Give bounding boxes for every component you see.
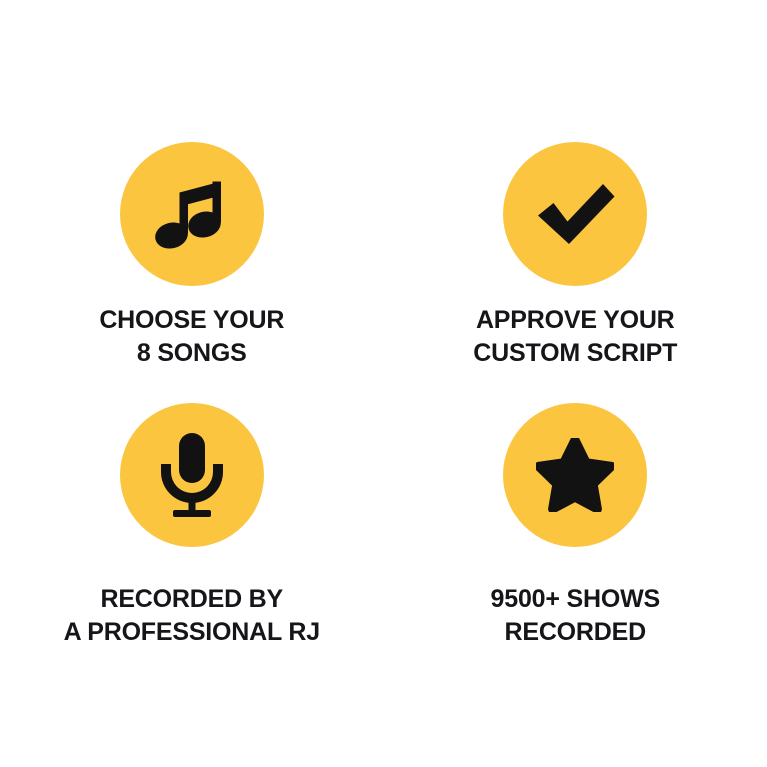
feature-item-approve-script[interactable]: APPROVE YOUR CUSTOM SCRIPT: [384, 0, 767, 370]
feature-infographic: CHOOSE YOUR 8 SONGS APPROVE YOUR CUSTOM …: [0, 0, 767, 767]
feature-item-shows-recorded[interactable]: 9500+ SHOWS RECORDED: [384, 384, 767, 649]
microphone-icon: [159, 433, 225, 517]
check-mark-icon: [534, 182, 616, 246]
feature-label-choose-songs: CHOOSE YOUR 8 SONGS: [99, 304, 284, 370]
icon-badge-approve-script: [503, 142, 647, 286]
feature-item-choose-songs[interactable]: CHOOSE YOUR 8 SONGS: [0, 0, 384, 370]
feature-label-approve-script: APPROVE YOUR CUSTOM SCRIPT: [473, 304, 677, 370]
icon-badge-recorded-by-rj: [120, 403, 264, 547]
icon-badge-shows-recorded: [503, 403, 647, 547]
feature-label-recorded-by-rj: RECORDED BY A PROFESSIONAL RJ: [64, 583, 320, 649]
star-icon: [536, 438, 614, 512]
feature-grid: CHOOSE YOUR 8 SONGS APPROVE YOUR CUSTOM …: [0, 0, 767, 767]
feature-label-shows-recorded: 9500+ SHOWS RECORDED: [491, 583, 660, 649]
music-note-icon: [155, 174, 229, 254]
icon-badge-choose-songs: [120, 142, 264, 286]
feature-item-recorded-by-rj[interactable]: RECORDED BY A PROFESSIONAL RJ: [0, 384, 384, 649]
